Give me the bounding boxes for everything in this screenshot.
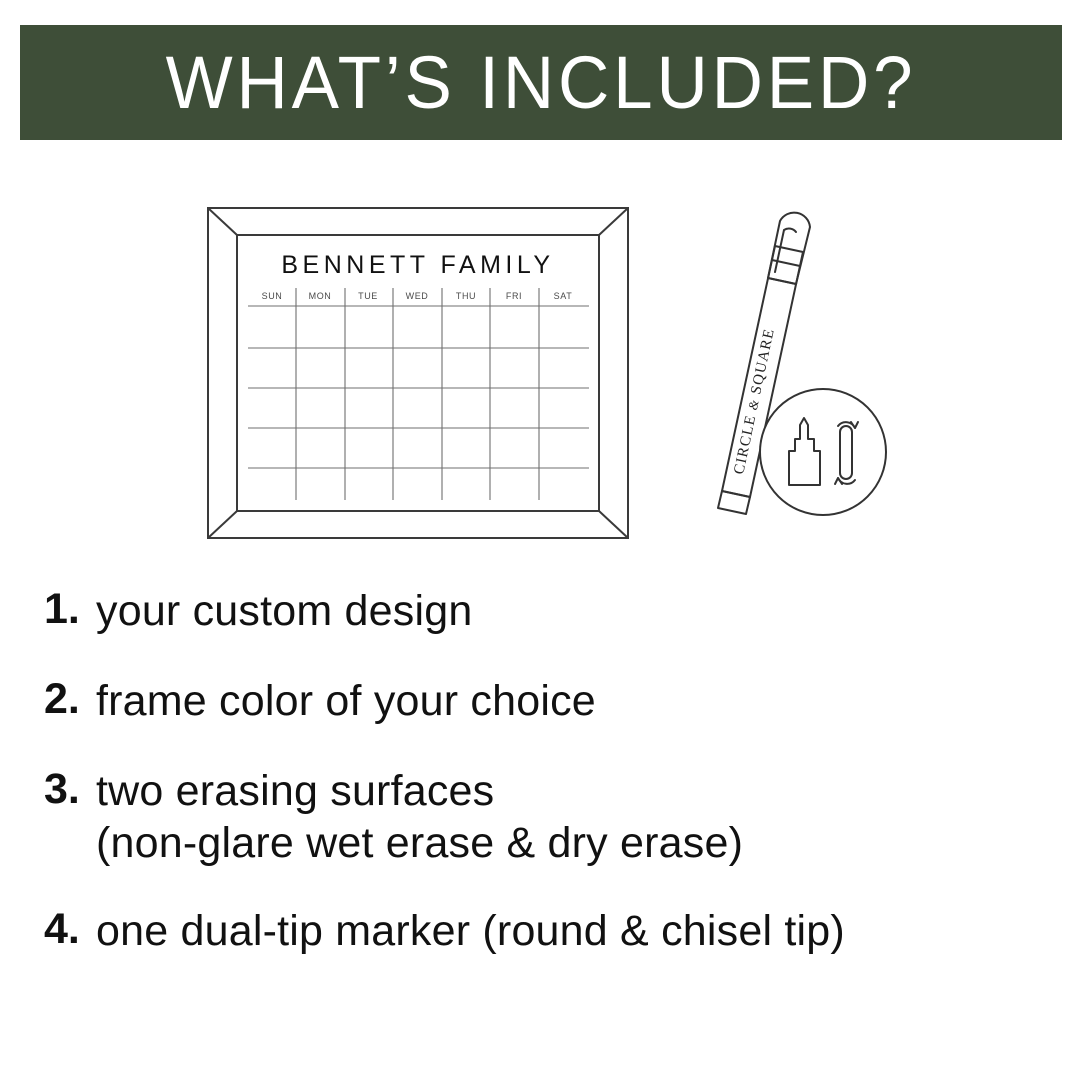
product-illustration: BENNETT FAMILY SUN MON TUE WED THU FRI S…	[0, 160, 1080, 570]
included-items-list: 1. your custom design 2. frame color of …	[0, 585, 1080, 959]
list-item: 2. frame color of your choice	[0, 675, 1080, 729]
list-item: 4. one dual-tip marker (round & chisel t…	[0, 905, 1080, 959]
list-item-number: 4.	[44, 905, 96, 953]
calendar-board-title: BENNETT FAMILY	[281, 251, 554, 279]
page-title: WHAT’S INCLUDED?	[166, 46, 917, 120]
calendar-weekday-row: SUN MON TUE WED THU FRI SAT	[262, 291, 573, 301]
weekday-label-sun: SUN	[262, 291, 283, 301]
list-item-text: frame color of your choice	[96, 675, 596, 729]
list-item: 3. two erasing surfaces (non-glare wet e…	[0, 765, 1080, 870]
weekday-label-tue: TUE	[358, 291, 378, 301]
weekday-label-thu: THU	[456, 291, 476, 301]
weekday-label-fri: FRI	[506, 291, 522, 301]
marker-tip-detail-circle	[760, 389, 886, 515]
header-banner: WHAT’S INCLUDED?	[20, 25, 1062, 140]
list-item: 1. your custom design	[0, 585, 1080, 639]
illustration-svg: BENNETT FAMILY SUN MON TUE WED THU FRI S…	[0, 160, 1080, 570]
weekday-label-wed: WED	[406, 291, 429, 301]
list-item-number: 2.	[44, 675, 96, 723]
weekday-label-sat: SAT	[554, 291, 573, 301]
marker-end-cap	[718, 491, 750, 514]
list-item-text: your custom design	[96, 585, 472, 639]
list-item-text: one dual-tip marker (round & chisel tip)	[96, 905, 845, 959]
weekday-label-mon: MON	[309, 291, 332, 301]
list-item-number: 3.	[44, 765, 96, 813]
list-item-number: 1.	[44, 585, 96, 633]
calendar-grid	[248, 288, 589, 500]
list-item-text: two erasing surfaces (non-glare wet eras…	[96, 765, 743, 870]
